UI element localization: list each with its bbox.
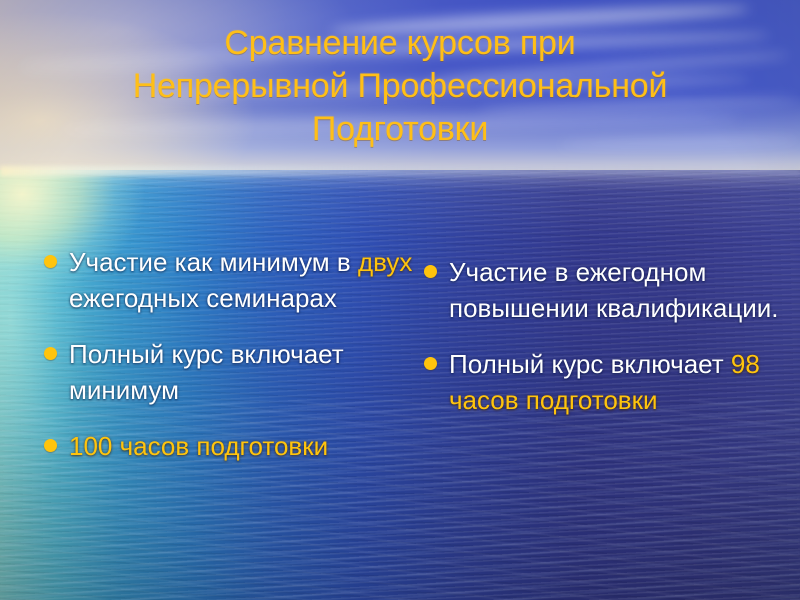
slide-content: Сравнение курсов при Непрерывной Професс… xyxy=(0,0,800,600)
bullet-item: 100 часов подготовки xyxy=(44,428,416,464)
right-column: Участие в ежегодном повышении квалификац… xyxy=(424,244,784,438)
bullet-text: 100 часов подготовки xyxy=(69,428,328,464)
bullet-dot-icon xyxy=(424,265,437,278)
title-line-3: Подготовки xyxy=(40,108,760,151)
bullet-item: Участие как минимум в двух ежегодных сем… xyxy=(44,244,416,316)
bullet-text: Участие как минимум в двух ежегодных сем… xyxy=(69,244,416,316)
bullet-item: Полный курс включает 98 часов подготовки xyxy=(424,346,784,418)
text-run: Участие как минимум в xyxy=(69,247,358,277)
bullet-dot-icon xyxy=(44,347,57,360)
bullet-text: Полный курс включает минимум xyxy=(69,336,416,408)
bullet-text: Полный курс включает 98 часов подготовки xyxy=(449,346,784,418)
highlighted-text-run: двух xyxy=(358,247,412,277)
presentation-slide: Сравнение курсов при Непрерывной Професс… xyxy=(0,0,800,600)
slide-title: Сравнение курсов при Непрерывной Професс… xyxy=(40,22,760,151)
bullet-item: Полный курс включает минимум xyxy=(44,336,416,408)
bullet-dot-icon xyxy=(44,439,57,452)
left-column: Участие как минимум в двух ежегодных сем… xyxy=(44,244,416,484)
text-run: Полный курс включает xyxy=(449,349,731,379)
title-line-2: Непрерывной Профессиональной xyxy=(40,65,760,108)
bullet-dot-icon xyxy=(424,357,437,370)
text-run: Полный курс включает минимум xyxy=(69,339,344,405)
bullet-item: Участие в ежегодном повышении квалификац… xyxy=(424,254,784,326)
bullet-dot-icon xyxy=(44,255,57,268)
bullet-text: Участие в ежегодном повышении квалификац… xyxy=(449,254,784,326)
text-run: Участие в ежегодном повышении квалификац… xyxy=(449,257,779,323)
text-run: ежегодных семинарах xyxy=(69,283,337,313)
highlighted-text-run: 100 часов подготовки xyxy=(69,431,328,461)
title-line-1: Сравнение курсов при xyxy=(40,22,760,65)
